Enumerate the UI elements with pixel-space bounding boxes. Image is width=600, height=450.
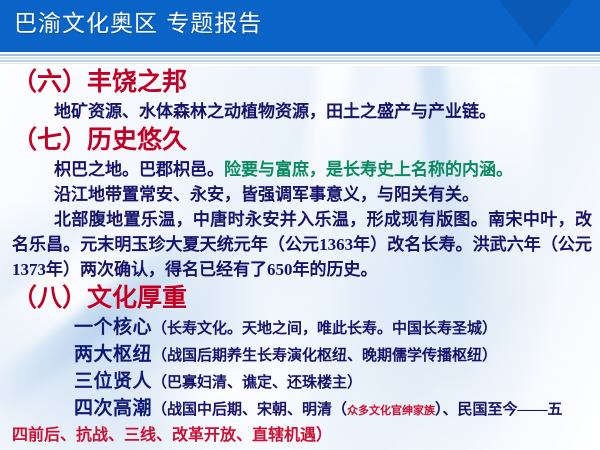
section-six-line-1: 地矿资源、水体森林之动植物资源，田土之盛产与产业链。 [0, 99, 600, 124]
section-heading-eight: （八）文化厚重 [0, 282, 600, 315]
bullet-three-sages: 三位贤人（巴寡妇清、谯定、还珠楼主） [0, 369, 600, 396]
bullet-one-core: 一个核心（长寿文化。天地之间，唯此长寿。中国长寿圣城） [0, 315, 600, 342]
bullet-three-sages-detail: （巴寡妇清、谯定、还珠楼主） [152, 375, 362, 391]
section-seven-line-1: 枳巴之地。巴郡枳邑。险要与富庶，是长寿史上名称的内涵。 [0, 157, 600, 182]
bullet-four-peaks-detail-tail: 四前后、抗战、三线、改革开放、直辖机遇） [0, 424, 600, 448]
section-seven-line-1-highlight: 险要与富庶，是长寿史上名称的内涵。 [224, 160, 513, 179]
bullet-two-hubs: 两大枢纽（战国后期养生长寿演化枢纽、晚期儒学传播枢纽） [0, 342, 600, 369]
bullet-three-sages-key: 三位贤人 [74, 371, 152, 392]
section-heading-six: （六）丰饶之邦 [0, 66, 600, 99]
banner-stripe-divider [0, 52, 600, 66]
section-heading-seven: （七）历史悠久 [0, 124, 600, 157]
bullet-four-peaks: 四次高潮（战国中后期、宋朝、明清（众多文化官绅家族）、民国至今——五 [0, 396, 600, 424]
bullet-four-peaks-detail-part2: ）、民国至今——五 [435, 402, 563, 418]
bullet-four-peaks-detail-part1: （战国中后期、宋朝、明清（ [152, 402, 347, 418]
bullet-four-peaks-detail-red: 众多文化官绅家族 [347, 405, 435, 417]
slide-body: （六）丰饶之邦 地矿资源、水体森林之动植物资源，田土之盛产与产业链。 （七）历史… [0, 66, 600, 450]
slide-title: 巴渝文化奥区 专题报告 [14, 9, 262, 39]
bullet-two-hubs-detail: （战国后期养生长寿演化枢纽、晚期儒学传播枢纽） [152, 348, 497, 364]
bullet-two-hubs-key: 两大枢纽 [74, 344, 152, 365]
bullet-one-core-detail: （长寿文化。天地之间，唯此长寿。中国长寿圣城） [152, 321, 497, 337]
section-seven-paragraph: 北部腹地置乐温，中唐时永安并入乐温，形成现有版图。南宋中叶，改名乐昌。元末明玉珍… [0, 207, 600, 282]
section-seven-line-1-plain: 枳巴之地。巴郡枳邑。 [54, 160, 224, 179]
section-seven-line-2: 沿江地带置常安、永安，皆强调军事意义，与阳关有关。 [0, 182, 600, 207]
slide-canvas: 巴渝文化奥区 专题报告 （六）丰饶之邦 地矿资源、水体森林之动植物资源，田土之盛… [0, 0, 600, 450]
slide-header-banner: 巴渝文化奥区 专题报告 [0, 0, 600, 52]
bullet-four-peaks-key: 四次高潮 [74, 398, 152, 419]
bullet-one-core-key: 一个核心 [74, 317, 152, 338]
triangle-down-icon [494, 0, 578, 46]
